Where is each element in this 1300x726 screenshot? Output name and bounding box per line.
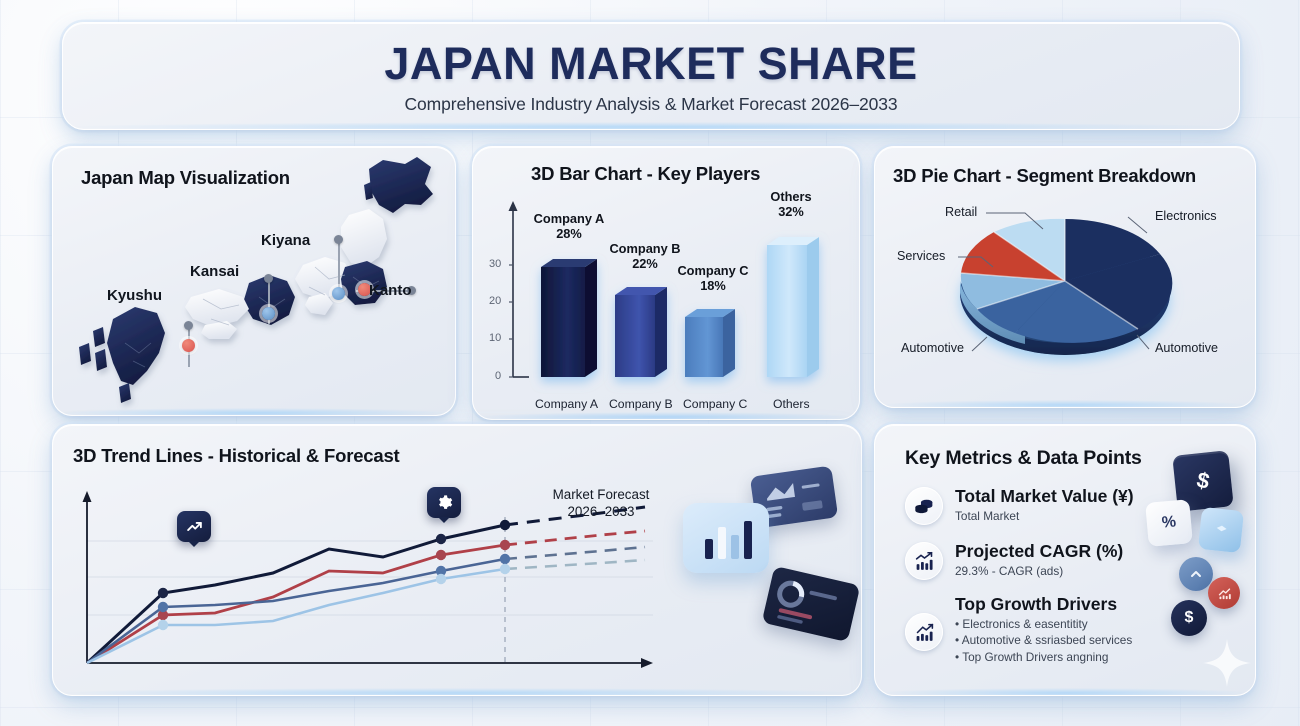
sparkle-decoration [1197, 633, 1256, 696]
metric-bullet: • Top Growth Drivers angning [955, 650, 1132, 664]
map-label-kyushu: Kyushu [107, 287, 162, 304]
metric-bullet: • Automotive & ssriasbed services [955, 633, 1132, 647]
coins-glyph [914, 496, 935, 517]
bar-value-pct-d: 32% [778, 204, 804, 219]
chart-circle-red[interactable] [1208, 577, 1240, 609]
forecast-note-line2: 2026–2033 [567, 504, 634, 519]
bar-value-company-c: Company C 18% [665, 263, 761, 293]
bar-value-label-c: Company C [677, 263, 748, 278]
map-dot-kansai[interactable] [264, 274, 273, 283]
bar-xlabel-company-c: Company C [683, 397, 747, 411]
forecast-note-line1: Market Forecast [553, 487, 650, 502]
metric-title: Projected CAGR (%) [955, 542, 1123, 561]
map-label-kiyana: Kiyana [261, 232, 310, 249]
percent-cube: % [1145, 499, 1193, 547]
cube-top-icon [1212, 521, 1231, 540]
mini-bar-tile [683, 503, 769, 573]
bar-ytick-0: 0 [495, 370, 501, 382]
map-dot-kiyana[interactable] [334, 235, 343, 244]
bar-chart-panel: 3D Bar Chart - Key Players [472, 146, 860, 420]
chart-arrow-glyph [914, 622, 935, 643]
pie-label-automotive-left: Automotive [901, 341, 964, 355]
metric-total-market-value: Total Market Value (¥) Total Market [905, 487, 1134, 525]
bar-xlabel-company-b: Company B [609, 397, 673, 411]
chart-growth-glyph [914, 551, 935, 572]
map-connector-kiyana [338, 241, 340, 292]
bar-chart-icon [1217, 586, 1232, 601]
key-metrics-panel: Key Metrics & Data Points Total Market V… [874, 424, 1256, 696]
bar-value-others: Others 32% [743, 189, 839, 219]
blue-cube [1198, 507, 1244, 553]
bar-value-label-b: Company B [609, 241, 680, 256]
dollar-glyph: $ [1194, 467, 1211, 495]
metric-bullet: • Electronics & easentitity [955, 617, 1132, 631]
map-dot-kyushu[interactable] [184, 321, 193, 330]
page-title: JAPAN MARKET SHARE [384, 38, 917, 90]
percent-glyph: % [1161, 513, 1177, 532]
bar-ytick-20: 20 [489, 295, 501, 307]
metric-title: Top Growth Drivers [955, 595, 1132, 614]
metric-title: Total Market Value (¥) [955, 487, 1134, 506]
sparkle-icon [1197, 633, 1256, 693]
pie-chart-panel: 3D Pie Chart - Segment Breakdown [874, 146, 1256, 408]
map-marker-kyushu[interactable] [182, 339, 195, 352]
bar-ytick-10: 10 [489, 332, 501, 344]
page-subtitle: Comprehensive Industry Analysis & Market… [404, 94, 897, 115]
coins-icon [905, 487, 943, 525]
dollar-circle[interactable]: $ [1171, 600, 1207, 636]
bar-ytick-30: 30 [489, 258, 501, 270]
japan-map-panel: Japan Map Visualization [52, 146, 456, 416]
metric-projected-cagr: Projected CAGR (%) 29.3% - CAGR (ads) [905, 542, 1123, 580]
metrics-panel-title: Key Metrics & Data Points [905, 447, 1142, 470]
pie-label-electronics: Electronics [1155, 209, 1217, 223]
japan-map-graphic: Kyushu Kansai Kiyana Kanto [53, 147, 455, 415]
mini-bar-chart-icon [683, 503, 769, 573]
map-label-kansai: Kansai [190, 263, 239, 280]
dashboard-stage: JAPAN MARKET SHARE Comprehensive Industr… [0, 0, 1300, 726]
chevron-up-icon [1188, 566, 1204, 582]
pie-chart-graphic [875, 147, 1256, 408]
forecast-annotation: Market Forecast 2026–2033 [511, 487, 691, 521]
chevron-up-circle[interactable] [1179, 557, 1213, 591]
map-marker-kiyana[interactable] [332, 287, 345, 300]
trend-lines-panel: 3D Trend Lines - Historical & Forecast [52, 424, 862, 696]
pie-label-services: Services [897, 249, 945, 263]
trending-up-badge[interactable] [177, 511, 211, 542]
gear-icon [436, 494, 453, 511]
trending-up-icon [186, 518, 203, 535]
header-panel: JAPAN MARKET SHARE Comprehensive Industr… [62, 22, 1240, 130]
bar-value-pct-a: 28% [556, 226, 582, 241]
bar-value-pct-b: 22% [632, 256, 658, 271]
bar-value-label-a: Company A [534, 211, 605, 226]
pie-label-retail: Retail [945, 205, 977, 219]
metric-subtitle: 29.3% - CAGR (ads) [955, 564, 1123, 578]
bar-value-company-a: Company A 28% [521, 211, 617, 241]
bar-value-label-d: Others [770, 189, 811, 204]
map-marker-kansai[interactable] [262, 307, 275, 320]
metric-subtitle: Total Market [955, 509, 1134, 523]
map-label-kanto: Kanto [369, 282, 412, 299]
metric-top-growth-drivers: Top Growth Drivers • Electronics & easen… [905, 595, 1132, 664]
chart-arrow-icon [905, 613, 943, 651]
bar-xlabel-others: Others [773, 397, 810, 411]
chart-growth-icon [905, 542, 943, 580]
settings-badge[interactable] [427, 487, 461, 518]
bar-value-pct-c: 18% [700, 278, 726, 293]
dollar-circle-glyph: $ [1185, 609, 1194, 627]
bar-xlabel-company-a: Company A [535, 397, 598, 411]
pie-label-automotive-right: Automotive [1155, 341, 1218, 355]
